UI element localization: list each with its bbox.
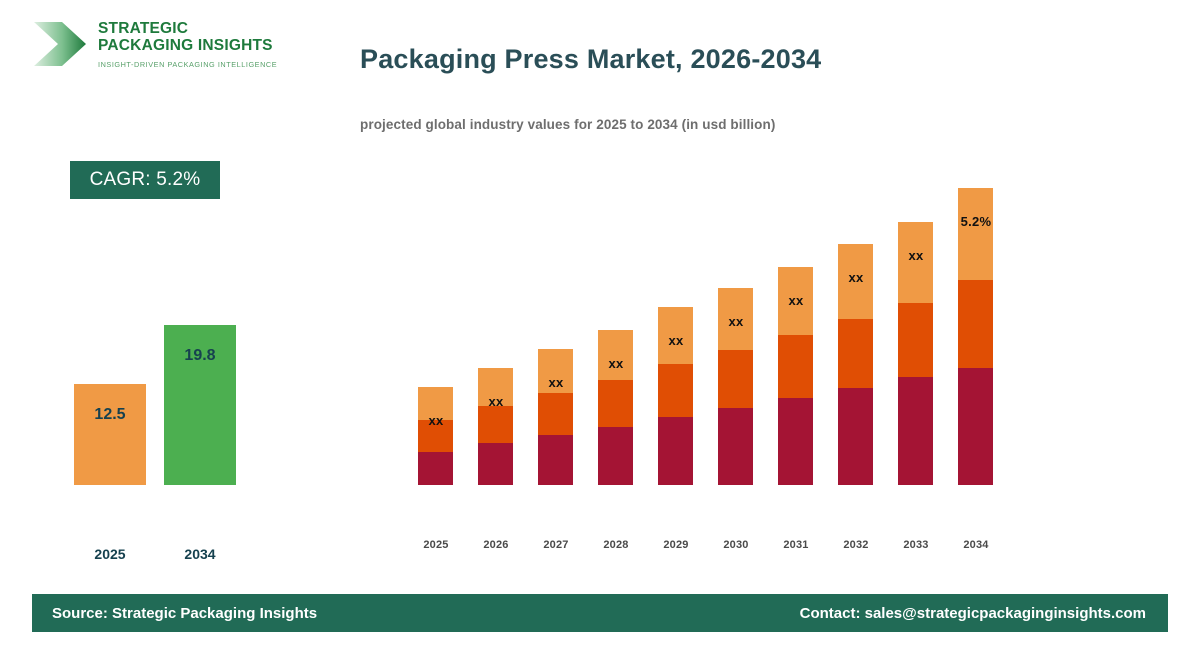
stacked-bar-segment [718, 350, 753, 408]
stacked-bar-segment [598, 380, 633, 427]
stacked-bar-segment [538, 393, 573, 435]
stacked-bar-value: xx [706, 314, 766, 329]
footer-contact: Contact: sales@strategicpackaginginsight… [800, 605, 1168, 622]
stacked-bar-segment [538, 435, 573, 485]
stacked-bar [478, 368, 513, 485]
stacked-bar-segment [898, 303, 933, 377]
stacked-bar-segment [958, 188, 993, 280]
stacked-bar-segment [658, 417, 693, 485]
stacked-bar-value: xx [526, 375, 586, 390]
stacked-bar-value: xx [646, 333, 706, 348]
stacked-bar-segment [478, 406, 513, 443]
stacked-bar-category: 2028 [586, 539, 646, 551]
stacked-bar-segment [778, 398, 813, 485]
stacked-bar-value: xx [586, 356, 646, 371]
stacked-bar-segment [658, 364, 693, 417]
stacked-bar-segment [478, 443, 513, 485]
stacked-bar-value: xx [766, 293, 826, 308]
stacked-bar-category: 2030 [706, 539, 766, 551]
stacked-bar-category: 2026 [466, 539, 526, 551]
footer-source: Source: Strategic Packaging Insights [32, 605, 317, 622]
stacked-bar-segment [778, 335, 813, 398]
stacked-bar-value: xx [406, 413, 466, 428]
stacked-bar-segment [718, 408, 753, 485]
stacked-bar-segment [898, 377, 933, 485]
chart-page: STRATEGIC PACKAGING INSIGHTS INSIGHT-DRI… [0, 0, 1200, 650]
stacked-bar-segment [958, 368, 993, 485]
stacked-bar-category: 2025 [406, 539, 466, 551]
stacked-bar-value: xx [466, 394, 526, 409]
stacked-bar-segment [838, 319, 873, 388]
stacked-bar-segment [598, 330, 633, 380]
stacked-bar [958, 188, 993, 485]
stacked-bar-value: 5.2% [946, 214, 1006, 229]
stacked-bar-category: 2034 [946, 539, 1006, 551]
stacked-bar [538, 349, 573, 485]
stacked-bar [598, 330, 633, 485]
footer-bar: Source: Strategic Packaging Insights Con… [32, 594, 1168, 632]
stacked-bar-segment [838, 388, 873, 485]
stacked-bar-segment [958, 280, 993, 368]
stacked-bar-category: 2032 [826, 539, 886, 551]
stacked-bar-segment [418, 452, 453, 485]
stacked-bar-category: 2031 [766, 539, 826, 551]
stacked-bar-value: xx [886, 248, 946, 263]
stacked-bar [418, 387, 453, 485]
forecast-stacked-chart: xx2025xx2026xx2027xx2028xx2029xx2030xx20… [0, 0, 1200, 600]
stacked-bar-category: 2027 [526, 539, 586, 551]
stacked-bar-value: xx [826, 270, 886, 285]
stacked-bar-category: 2033 [886, 539, 946, 551]
stacked-bar-segment [598, 427, 633, 485]
stacked-bar-category: 2029 [646, 539, 706, 551]
